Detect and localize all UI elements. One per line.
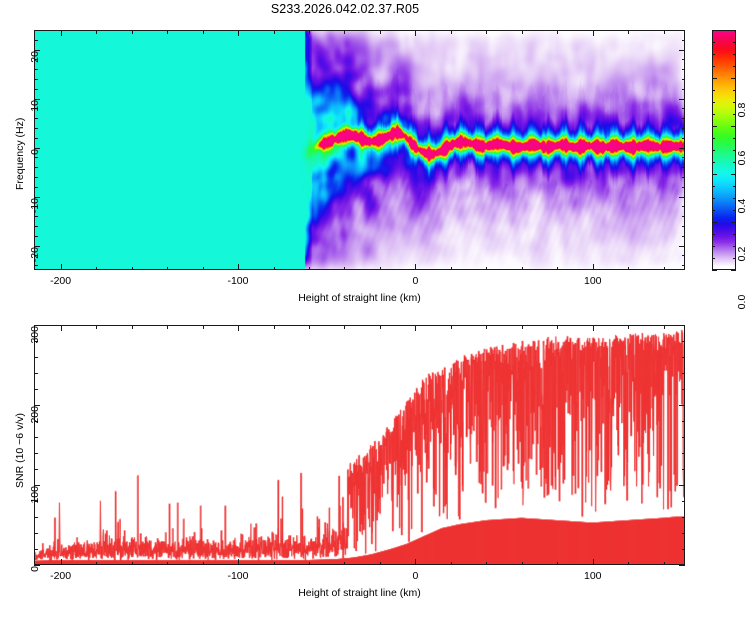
snr-panel — [34, 325, 685, 565]
spectrogram-image — [35, 31, 684, 269]
spectrogram-panel — [34, 30, 685, 270]
figure-root: S233.2026.042.02.37.R05 -200-10001002010… — [0, 0, 750, 600]
snr-x-axis-label: Height of straight line (km) — [34, 587, 685, 599]
snr-y-axis-label: SNR (10 −6 v/v) — [14, 413, 26, 488]
spectrogram-y-axis-label: Frequency (Hz) — [14, 118, 26, 190]
page-title: S233.2026.042.02.37.R05 — [0, 2, 690, 16]
snr-trace — [35, 326, 684, 564]
spectrogram-x-axis-label: Height of straight line (km) — [34, 292, 685, 304]
